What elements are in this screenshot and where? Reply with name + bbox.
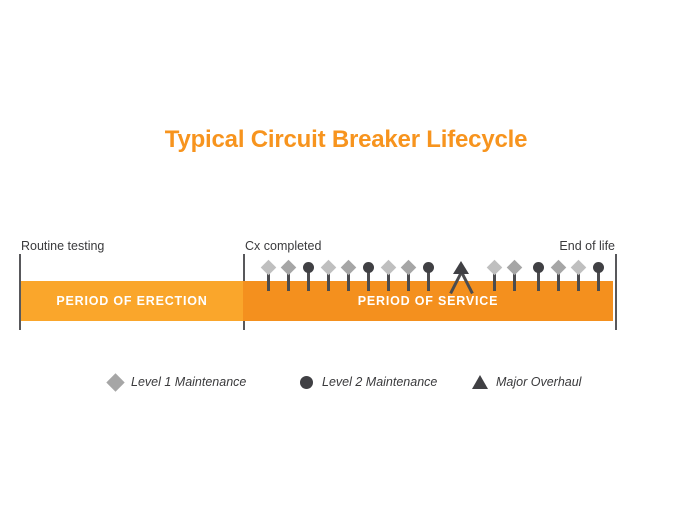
legend-item-triangle[interactable]: Major Overhaul [471, 371, 581, 393]
period-band-erection: PERIOD OF ERECTION [21, 281, 243, 321]
legend-item-label: Major Overhaul [496, 375, 581, 389]
diamond-icon [106, 373, 124, 391]
diamond-icon [506, 259, 522, 275]
triangle-icon [472, 375, 488, 389]
circle-icon [593, 262, 604, 273]
legend-item-label: Level 2 Maintenance [322, 375, 437, 389]
legend-item-label: Level 1 Maintenance [131, 375, 246, 389]
period-band-label: PERIOD OF ERECTION [56, 294, 207, 308]
marker-stem [427, 271, 430, 291]
lifecycle-timeline: Routine testingCx completedEnd of life P… [0, 0, 692, 514]
marker-stem [537, 271, 540, 291]
circle-icon [300, 376, 313, 389]
diamond-icon [320, 259, 336, 275]
circle-icon [533, 262, 544, 273]
marker-stem [597, 271, 600, 291]
legend-item-circle[interactable]: Level 2 Maintenance [297, 371, 437, 393]
timeline-boundary-label: End of life [415, 239, 616, 253]
triangle-icon [453, 261, 469, 274]
infographic-root: Typical Circuit Breaker Lifecycle Routin… [0, 0, 692, 514]
diamond-icon [260, 259, 276, 275]
diamond-icon [550, 259, 566, 275]
diamond-icon [280, 259, 296, 275]
diamond-icon [340, 259, 356, 275]
diamond-icon [400, 259, 416, 275]
marker-stem [307, 271, 310, 291]
timeline-divider-3 [615, 254, 617, 330]
legend-swatch [106, 373, 124, 391]
timeline-boundary-label: Cx completed [245, 239, 321, 253]
diamond-icon [570, 259, 586, 275]
legend-item-diamond[interactable]: Level 1 Maintenance [106, 371, 246, 393]
legend-swatch [471, 373, 489, 391]
marker-stem [367, 271, 370, 291]
diamond-icon [486, 259, 502, 275]
chart-legend: Level 1 MaintenanceLevel 2 MaintenanceMa… [0, 371, 692, 393]
circle-icon [303, 262, 314, 273]
diamond-icon [380, 259, 396, 275]
period-band-label: PERIOD OF SERVICE [358, 294, 498, 308]
timeline-boundary-label: Routine testing [21, 239, 104, 253]
legend-swatch [297, 373, 315, 391]
circle-icon [363, 262, 374, 273]
circle-icon [423, 262, 434, 273]
